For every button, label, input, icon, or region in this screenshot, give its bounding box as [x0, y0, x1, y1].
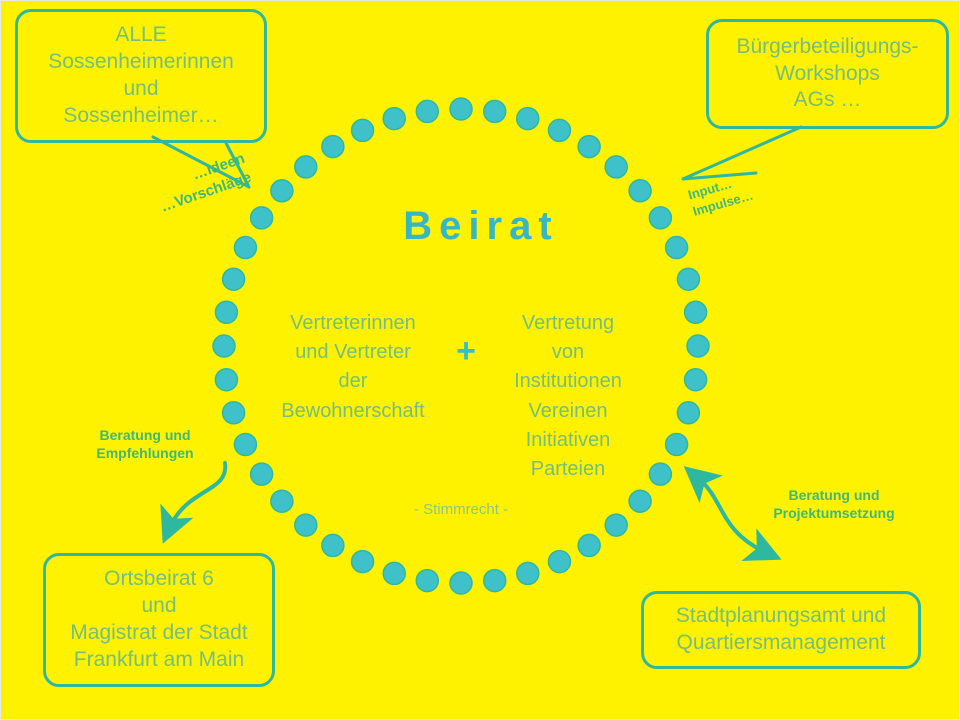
circle-dot	[687, 335, 709, 357]
circle-dot	[484, 100, 506, 122]
circle-dot	[251, 463, 273, 485]
circle-dot	[215, 301, 237, 323]
circle-dot	[295, 156, 317, 178]
annotation-beratung-empfehlungen: Beratung und Empfehlungen	[75, 426, 215, 462]
center-column-bewohnerschaft: Vertreterinnen und Vertreter der Bewohne…	[263, 309, 443, 426]
box-stadtplanungsamt-text: Stadtplanungsamt und Quartiersmanagement	[644, 603, 918, 657]
circle-dot	[685, 369, 707, 391]
circle-dot	[450, 98, 472, 120]
speech-bubble-buergerbeteiligung[interactable]: Bürgerbeteiligungs- Workshops AGs …	[706, 19, 949, 129]
circle-dot	[416, 570, 438, 592]
circle-dot	[548, 551, 570, 573]
circle-dot	[666, 433, 688, 455]
diagram-canvas: ALLE Sossenheimerinnen und Sossenheimer……	[0, 0, 960, 720]
circle-dot	[223, 268, 245, 290]
arrow-beratung-empfehlungen	[169, 463, 225, 529]
circle-dot	[213, 335, 235, 357]
circle-dot	[484, 570, 506, 592]
center-column-institutionen: Vertretung von Institutionen Vereinen In…	[479, 309, 657, 484]
circle-dot	[322, 534, 344, 556]
circle-dot	[677, 402, 699, 424]
speech-bubble-alle-sossenheimer[interactable]: ALLE Sossenheimerinnen und Sossenheimer…	[15, 9, 267, 143]
speech-bubble-alle-text: ALLE Sossenheimerinnen und Sossenheimer…	[18, 22, 264, 130]
circle-dot	[517, 108, 539, 130]
circle-dot	[605, 156, 627, 178]
circle-dot	[548, 119, 570, 141]
footnote-stimmrecht: - Stimmrecht -	[331, 501, 591, 518]
circle-dot	[215, 369, 237, 391]
circle-dot	[383, 562, 405, 584]
circle-dot	[322, 136, 344, 158]
circle-dot	[383, 108, 405, 130]
circle-dot	[677, 268, 699, 290]
annotation-beratung-projektumsetzung: Beratung und Projektumsetzung	[749, 486, 919, 522]
box-stadtplanungsamt-quartiersmanagement[interactable]: Stadtplanungsamt und Quartiersmanagement	[641, 591, 921, 669]
circle-dot	[605, 514, 627, 536]
circle-dot	[629, 490, 651, 512]
circle-dot	[578, 136, 600, 158]
box-ortsbeirat-magistrat[interactable]: Ortsbeirat 6 und Magistrat der Stadt Fra…	[43, 553, 275, 687]
circle-dot	[685, 301, 707, 323]
circle-dot	[416, 100, 438, 122]
circle-dot	[234, 433, 256, 455]
circle-dot	[295, 514, 317, 536]
circle-dot	[352, 551, 374, 573]
circle-dot	[517, 562, 539, 584]
circle-dot	[271, 180, 293, 202]
speech-bubble-buergerbeteiligung-text: Bürgerbeteiligungs- Workshops AGs …	[709, 34, 946, 115]
circle-dot	[450, 572, 472, 594]
box-ortsbeirat-text: Ortsbeirat 6 und Magistrat der Stadt Fra…	[46, 566, 272, 674]
circle-dot	[271, 490, 293, 512]
circle-dot	[578, 534, 600, 556]
circle-dot	[629, 180, 651, 202]
circle-dot	[223, 402, 245, 424]
circle-dot	[352, 119, 374, 141]
